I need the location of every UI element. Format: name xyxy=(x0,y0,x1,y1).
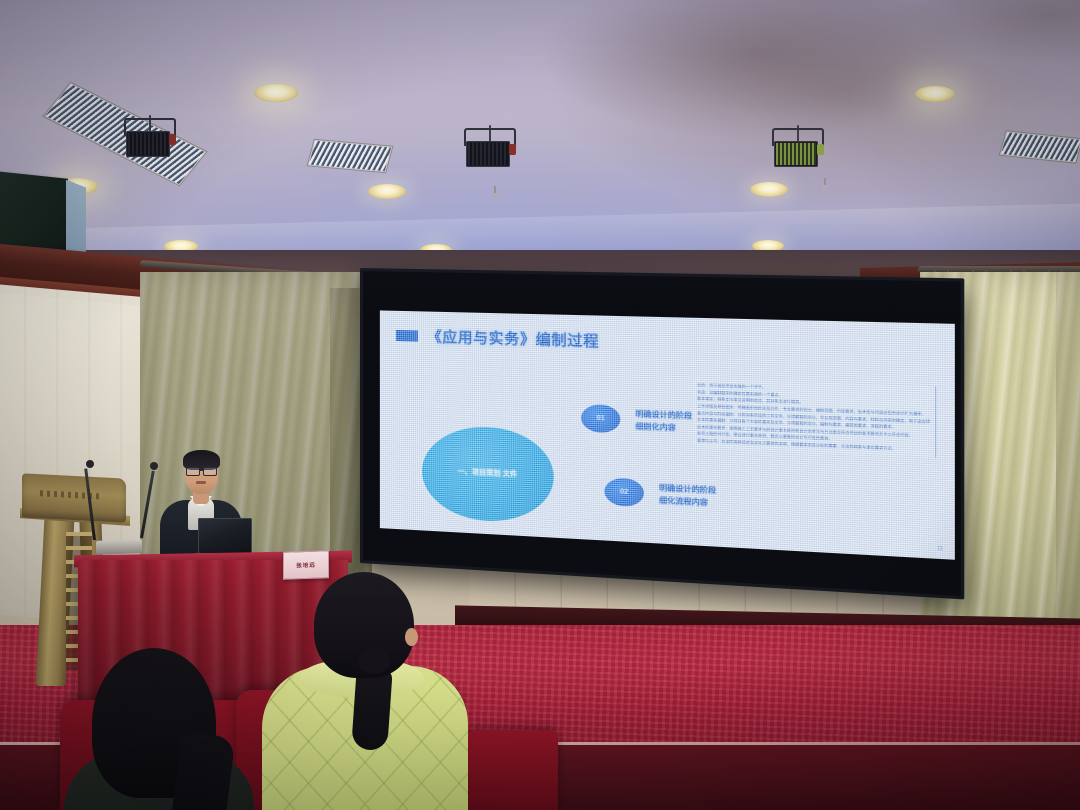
sprinkler-right-icon xyxy=(822,178,828,190)
step-number-badge: 03 xyxy=(573,548,612,560)
slide-step-03: 03 明确设计阶段的 细则化内容 xyxy=(573,548,684,560)
curtain-far-right xyxy=(1056,272,1080,652)
slide-page-number: 11 xyxy=(937,546,943,553)
downlight-1 xyxy=(254,84,298,102)
step-number-badge: 01 xyxy=(581,404,620,433)
audience-member-dark-coat xyxy=(64,648,254,810)
led-display-screen[interactable]: 《应用与实务》编制过程 一、项目策划 文件 01 明确设计的阶段 细则化内容 0… xyxy=(360,268,964,599)
podium-top xyxy=(22,473,126,522)
slide-step-01: 01 明确设计的阶段 细则化内容 xyxy=(581,404,692,436)
slide-step-02: 02 明确设计的阶段 细化流程内容 xyxy=(604,477,716,511)
slide-title-row: 《应用与实务》编制过程 xyxy=(396,325,599,352)
presentation-slide: 《应用与实务》编制过程 一、项目策划 文件 01 明确设计的阶段 细则化内容 0… xyxy=(380,310,955,559)
stage-spotlight-center-icon xyxy=(464,128,512,174)
stage-spotlight-right-icon xyxy=(772,128,820,174)
slide-surface: 《应用与实务》编制过程 一、项目策划 文件 01 明确设计的阶段 细则化内容 0… xyxy=(380,310,955,559)
audience-member-green-jacket xyxy=(262,570,472,810)
stage-spotlight-left-icon xyxy=(124,118,172,164)
glasses-icon xyxy=(186,467,217,474)
mic-head-icon xyxy=(86,460,94,468)
slide-big-bubble: 一、项目策划 文件 xyxy=(422,424,554,524)
audience-hair-tie xyxy=(358,648,390,674)
title-chip-icon xyxy=(396,330,418,342)
downlight-3 xyxy=(368,184,406,199)
downlight-8 xyxy=(915,86,955,102)
mic-head-icon xyxy=(150,462,158,470)
conference-hall-photo: 《应用与实务》编制过程 一、项目策划 文件 01 明确设计的阶段 细则化内容 0… xyxy=(0,0,1080,810)
downlight-4 xyxy=(750,182,788,197)
name-card-text: 张培远 xyxy=(296,561,316,570)
presenter-mouth xyxy=(196,481,206,484)
step-label: 明确设计的阶段 细化流程内容 xyxy=(659,482,716,509)
slide-text-panel: 目的：用于适应项目实施的一个环节。 手段：对编制程序的确定性是实施的一个重点。 … xyxy=(693,379,937,458)
audience-chair-right[interactable] xyxy=(468,730,558,810)
step-label: 明确设计阶段的 细则化内容 xyxy=(627,553,684,560)
audience-ear xyxy=(405,628,418,646)
laptop-screen xyxy=(198,518,252,554)
sprinkler-center-icon xyxy=(492,186,498,198)
step-number-badge: 02 xyxy=(604,477,644,507)
desk-document-tray xyxy=(96,539,142,555)
slide-title: 《应用与实务》编制过程 xyxy=(427,326,599,352)
step-label: 明确设计的阶段 细则化内容 xyxy=(635,408,692,434)
